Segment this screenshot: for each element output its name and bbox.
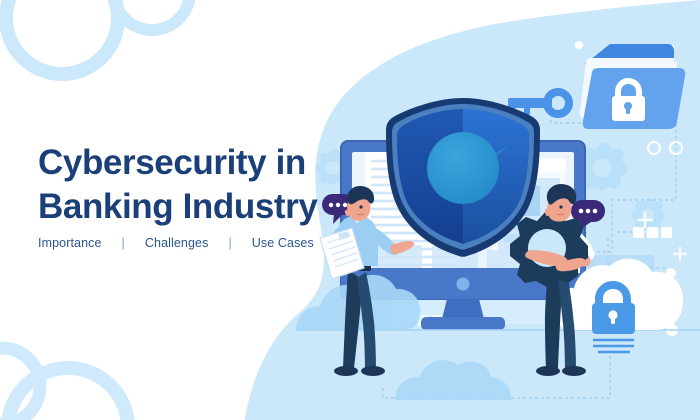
subnav-item-importance[interactable]: Importance (38, 236, 102, 250)
page-title: Cybersecurity in Banking Industry (38, 141, 368, 229)
banner-root: Cybersecurity in Banking Industry Import… (0, 0, 700, 420)
page-title-line1: Cybersecurity in (38, 143, 306, 182)
subnav-item-use-cases[interactable]: Use Cases (252, 236, 314, 250)
subnav: Importance | Challenges | Use Cases (38, 236, 314, 250)
page-title-line2: Banking Industry (38, 185, 368, 229)
text-layer: Cybersecurity in Banking Industry Import… (0, 0, 700, 420)
subnav-item-challenges[interactable]: Challenges (145, 236, 209, 250)
subnav-separator-1: | (122, 236, 125, 250)
subnav-separator-2: | (228, 236, 231, 250)
